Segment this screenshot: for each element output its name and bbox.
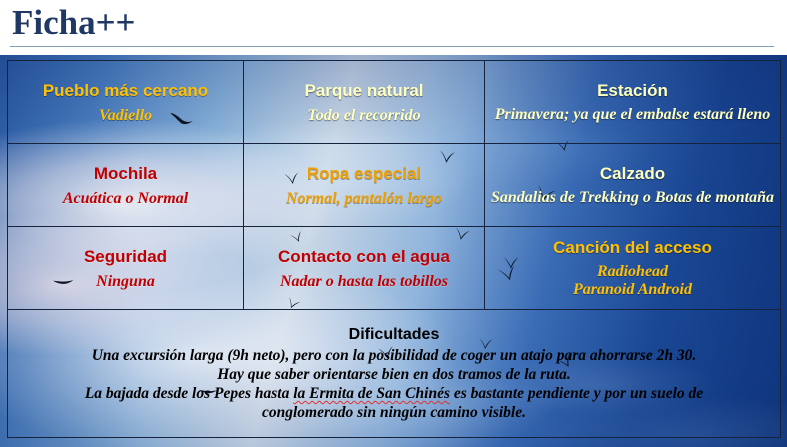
- title-area: Ficha++: [0, 0, 787, 55]
- table-row: Mochila Acuática o Normal Ropa especial …: [8, 144, 781, 227]
- table-row: Seguridad Ninguna Contacto con el agua N…: [8, 227, 781, 310]
- note-line-text: La bajada desde los Pepes hasta la Ermit…: [85, 385, 703, 402]
- cell-value-text-line2: Paranoid Android: [490, 281, 775, 299]
- cell-value-text: Ninguna: [13, 272, 238, 291]
- cell-header-label: Parque natural: [249, 80, 479, 101]
- table-cell-dificultades[interactable]: Dificultades Una excursión larga (9h net…: [8, 310, 781, 438]
- hike-info-table: Pueblo más cercano Vadiello Parque natur…: [7, 60, 781, 438]
- note-line-text: Hay que saber orientarse bien en dos tra…: [217, 366, 571, 383]
- cell-value-text: Nadar o hasta las tobillos: [249, 272, 479, 291]
- table-cell-contacto-con-el-agua[interactable]: Contacto con el agua Nadar o hasta las t…: [244, 227, 485, 310]
- cell-header-label: Contacto con el agua: [249, 246, 479, 267]
- title-underline-rule: [10, 46, 774, 47]
- table-cell-parque-natural[interactable]: Parque natural Todo el recorrido: [244, 61, 485, 144]
- cell-header-label: Pueblo más cercano: [13, 80, 238, 101]
- slide-canvas: Ficha++: [0, 0, 787, 447]
- cell-header-label: Ropa especial: [249, 163, 479, 184]
- table-row-notes: Dificultades Una excursión larga (9h net…: [8, 310, 781, 438]
- note-line: Hay que saber orientarse bien en dos tra…: [13, 365, 775, 384]
- table-cell-ropa-especial[interactable]: Ropa especial Normal, pantalón largo: [244, 144, 485, 227]
- note-line-text: conglomerado sin ningún camino visible.: [262, 404, 526, 421]
- notes-title: Dificultades: [13, 325, 775, 345]
- spellcheck-underlined-phrase: la Ermita de San Chinés: [293, 385, 450, 402]
- cell-header-label: Estación: [490, 80, 775, 101]
- page-title: Ficha++: [12, 2, 136, 44]
- table-cell-mochila[interactable]: Mochila Acuática o Normal: [8, 144, 244, 227]
- cell-value-text: Todo el recorrido: [249, 106, 479, 125]
- sky-background-board: Pueblo más cercano Vadiello Parque natur…: [0, 55, 787, 447]
- cell-header-label: Canción del acceso: [490, 237, 775, 258]
- table-row: Pueblo más cercano Vadiello Parque natur…: [8, 61, 781, 144]
- table-cell-estacion[interactable]: Estación Primavera; ya que el embalse es…: [485, 61, 781, 144]
- note-line: Una excursión larga (9h neto), pero con …: [13, 346, 775, 365]
- cell-value-text: Vadiello: [13, 106, 238, 125]
- cell-header-label: Calzado: [490, 163, 775, 184]
- table-cell-seguridad[interactable]: Seguridad Ninguna: [8, 227, 244, 310]
- cell-value-text: Radiohead: [490, 263, 775, 281]
- cell-value-text: Acuática o Normal: [13, 189, 238, 208]
- cell-header-label: Seguridad: [13, 246, 238, 267]
- table-cell-pueblo-mas-cercano[interactable]: Pueblo más cercano Vadiello: [8, 61, 244, 144]
- note-line-with-spellcheck: La bajada desde los Pepes hasta la Ermit…: [13, 384, 775, 403]
- table-cell-calzado[interactable]: Calzado Sandalias de Trekking o Botas de…: [485, 144, 781, 227]
- table-cell-cancion-del-acceso[interactable]: Canción del acceso Radiohead Paranoid An…: [485, 227, 781, 310]
- cell-value-text: Primavera; ya que el embalse estará llen…: [490, 106, 775, 124]
- cell-header-label: Mochila: [13, 163, 238, 184]
- cell-value-text: Sandalias de Trekking o Botas de montaña: [490, 189, 775, 207]
- cell-value-text: Normal, pantalón largo: [249, 189, 479, 208]
- note-line: conglomerado sin ningún camino visible.: [13, 403, 775, 422]
- note-line-text: Una excursión larga (9h neto), pero con …: [92, 347, 697, 364]
